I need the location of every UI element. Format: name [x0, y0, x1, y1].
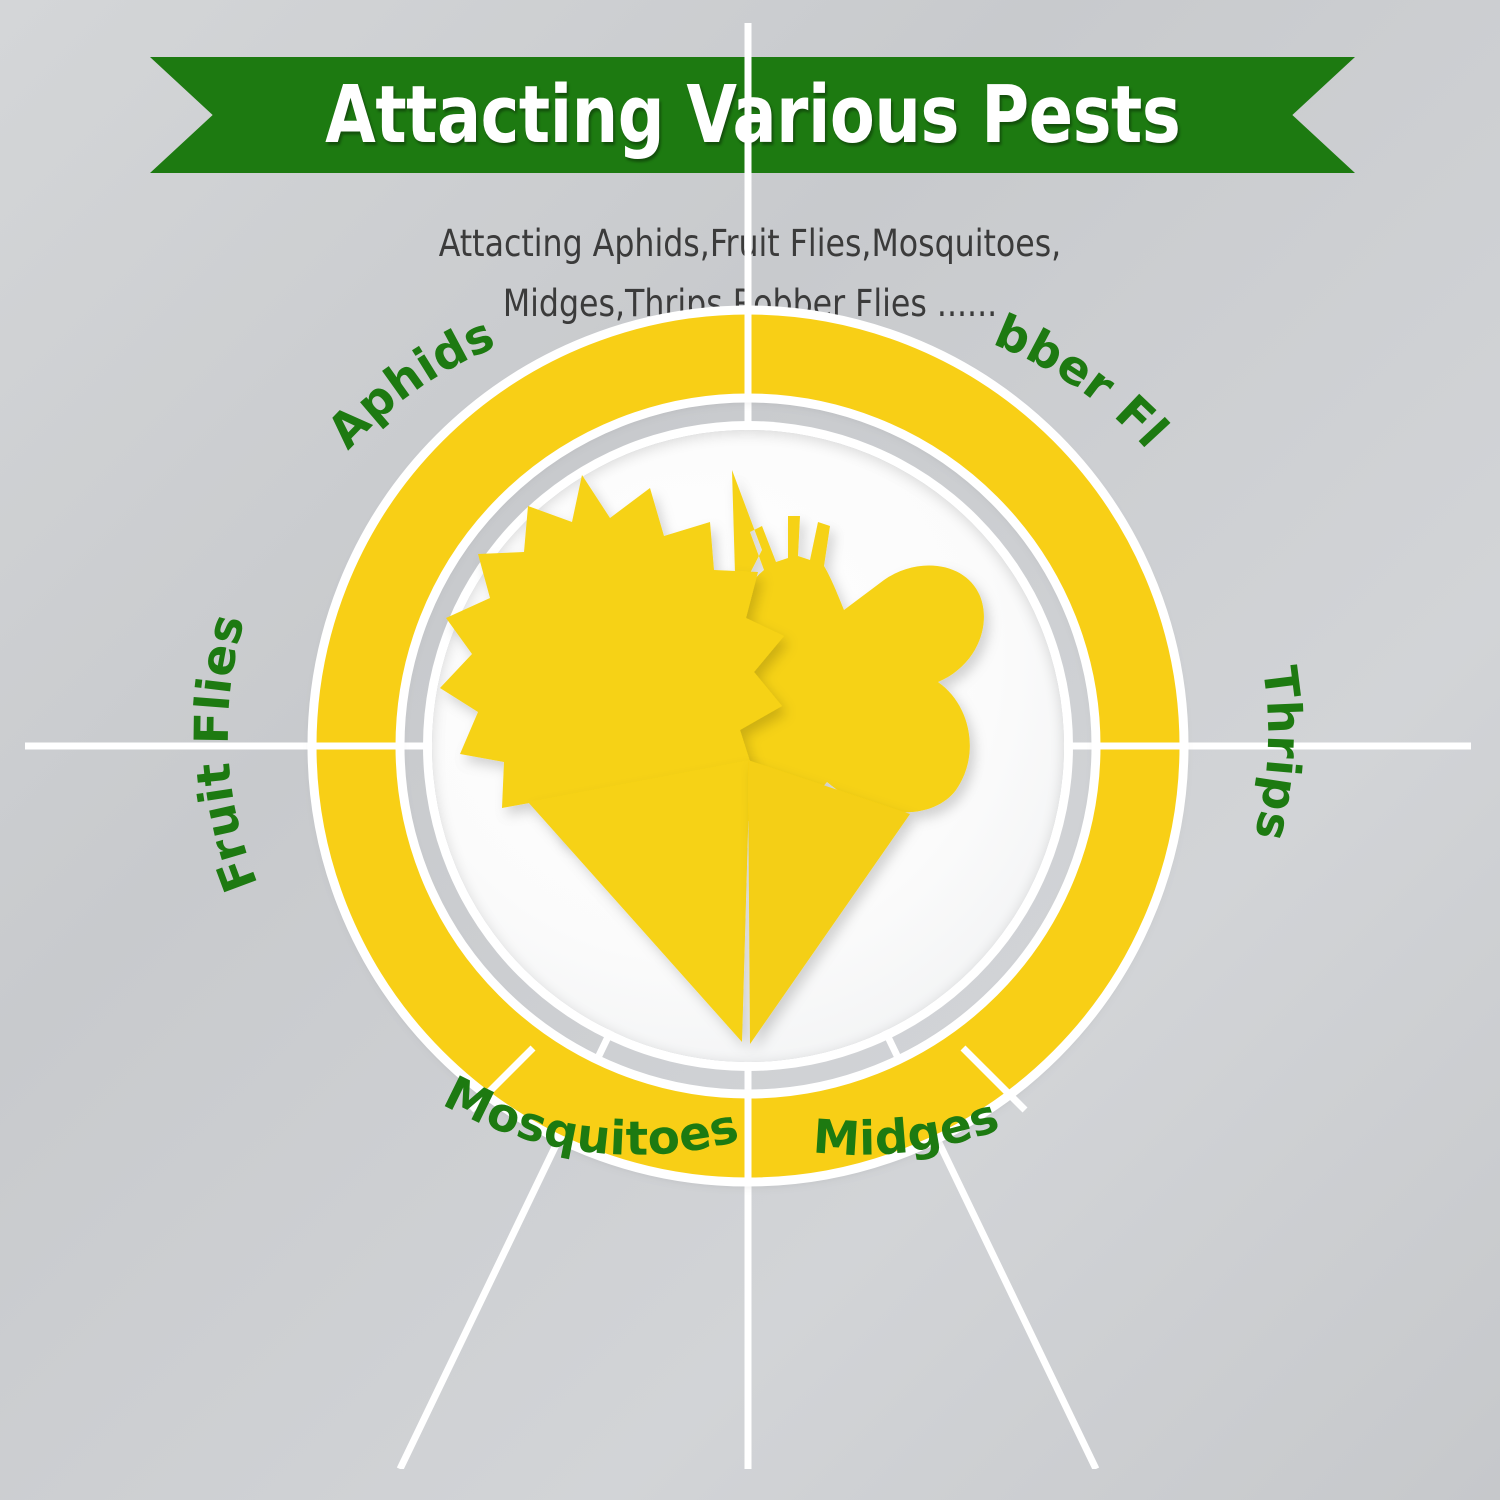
- center-hub: [432, 430, 1064, 1062]
- ring-label-thrips[interactable]: Thrips: [1243, 663, 1312, 846]
- ring-label-fruit-flies[interactable]: Fruit Flies: [185, 608, 269, 899]
- trap-shapes-group: [432, 430, 1064, 1062]
- triangle-trap-left[interactable]: [528, 760, 750, 1042]
- pest-wheel: Aphids Robber Flies Fruit Flies Thrips M…: [25, 23, 1471, 1469]
